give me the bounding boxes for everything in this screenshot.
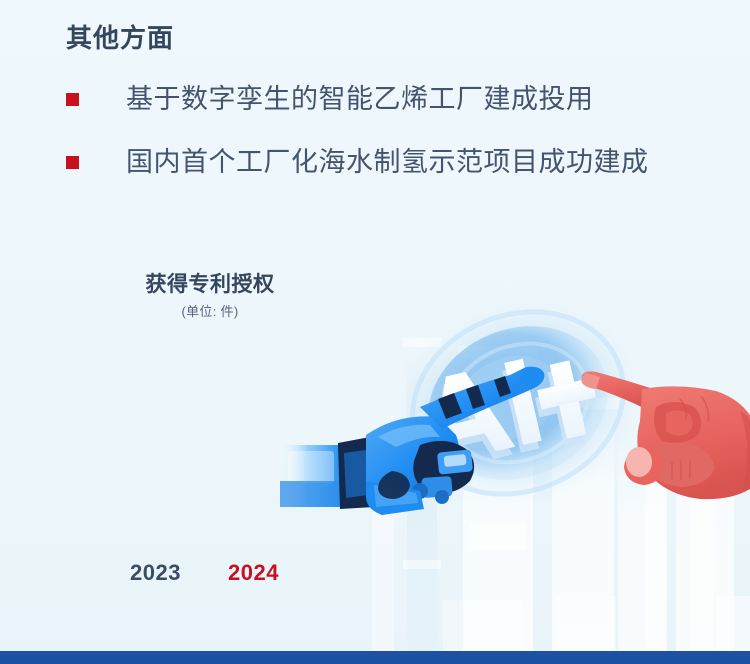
- list-item: 国内首个工厂化海水制氢示范项目成功建成: [66, 145, 736, 180]
- ai-plus-wordmark: [411, 345, 606, 478]
- ai-plus-illustration: [270, 295, 750, 575]
- glow-halo: [360, 295, 677, 549]
- x-tick-2024: 2024: [228, 560, 279, 586]
- list-item: 基于数字孪生的智能乙烯工厂建成投用: [66, 82, 736, 117]
- square-bullet-icon: [66, 93, 79, 106]
- chart-title: 获得专利授权: [0, 268, 420, 298]
- slide-canvas: 其他方面 基于数字孪生的智能乙烯工厂建成投用 国内首个工厂化海水制氢示范项目成功…: [0, 0, 750, 664]
- bottom-accent-bar: [0, 651, 750, 664]
- robot-hand: [280, 367, 544, 515]
- page-title: 其他方面: [66, 18, 174, 55]
- x-tick-2023: 2023: [130, 560, 181, 586]
- human-hand: [582, 371, 750, 499]
- square-bullet-icon: [66, 156, 79, 169]
- chart-subtitle-unit: (单位: 件): [0, 301, 420, 320]
- bullet-list: 基于数字孪生的智能乙烯工厂建成投用 国内首个工厂化海水制氢示范项目成功建成: [66, 82, 736, 207]
- list-item-label: 基于数字孪生的智能乙烯工厂建成投用: [126, 82, 594, 117]
- list-item-label: 国内首个工厂化海水制氢示范项目成功建成: [126, 145, 649, 180]
